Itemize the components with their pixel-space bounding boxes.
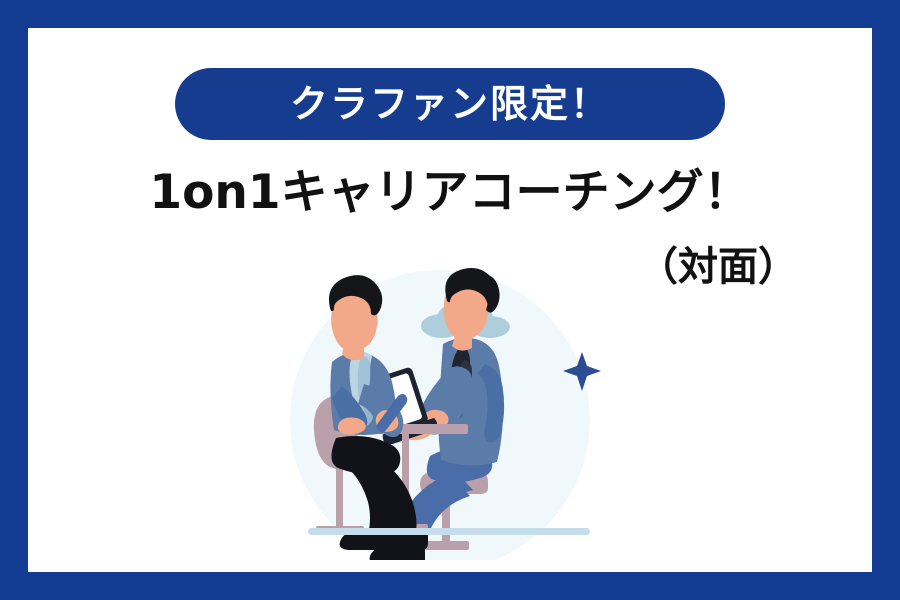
coaching-illustration — [280, 260, 640, 560]
campaign-badge-label: クラファン限定！ — [290, 85, 610, 123]
page-title: 1on1キャリアコーチング！ — [28, 166, 872, 220]
campaign-badge: クラファン限定！ — [175, 68, 725, 140]
promo-banner: クラファン限定！ 1on1キャリアコーチング！ （対面） — [0, 0, 900, 600]
page-subtitle: （対面） — [638, 244, 798, 290]
banner-inner-card: クラファン限定！ 1on1キャリアコーチング！ （対面） — [28, 28, 872, 572]
ground-line — [308, 528, 590, 535]
